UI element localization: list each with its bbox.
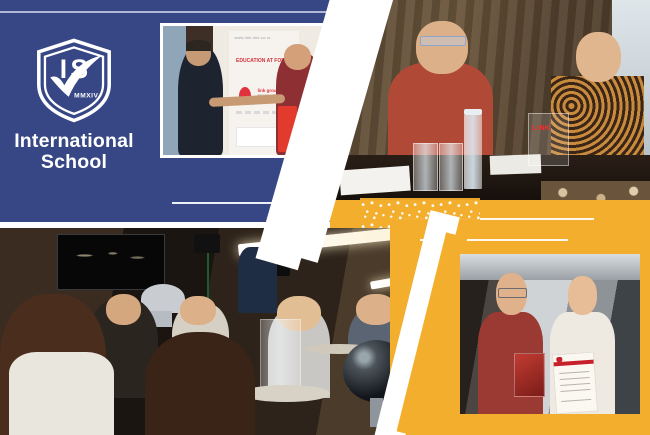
- svg-text:I: I: [60, 54, 67, 84]
- water-bottle: [464, 113, 482, 189]
- participant-head: [106, 294, 141, 325]
- hairline-rule-top: [0, 11, 340, 13]
- glass-award-plaque: [514, 353, 545, 397]
- ceiling: [460, 254, 640, 280]
- pastry-tray: [242, 385, 330, 402]
- woman-head: [576, 32, 621, 82]
- link-table-sign: LINK: [528, 113, 568, 165]
- shield-icon: I S MMXIV: [30, 36, 118, 124]
- wall-monitor: [57, 234, 165, 290]
- participant-head: [180, 296, 215, 325]
- logo-year: MMXIV: [74, 93, 98, 100]
- logo: I S MMXIV International School: [0, 36, 148, 173]
- representative-head: [284, 44, 311, 70]
- drinking-glass: [439, 143, 463, 191]
- pastry-stand: [260, 319, 302, 391]
- foreground-participant: [145, 332, 255, 435]
- man-head: [416, 21, 467, 74]
- drinking-glass: [413, 143, 437, 191]
- banner-url: www.link.link.co.rs: [234, 35, 270, 40]
- eyeglasses: [498, 288, 527, 298]
- brand-name-line1: International: [14, 130, 134, 152]
- brand-name: International School: [0, 131, 148, 173]
- video-camera: [194, 234, 220, 253]
- collage-canvas: I S MMXIV International School: [0, 0, 650, 435]
- group-photo: [0, 228, 440, 435]
- award-photo: [460, 254, 640, 414]
- eyeglasses: [420, 36, 467, 46]
- documents: [339, 166, 411, 196]
- brand-name-line2: School: [0, 152, 148, 173]
- student-hair: [186, 40, 211, 50]
- bottle-cap: [464, 109, 482, 115]
- foreground-participant-body: [9, 352, 115, 435]
- woman-head: [568, 276, 597, 314]
- diploma-certificate: [552, 352, 598, 414]
- link-sign-text: LINK: [532, 125, 550, 132]
